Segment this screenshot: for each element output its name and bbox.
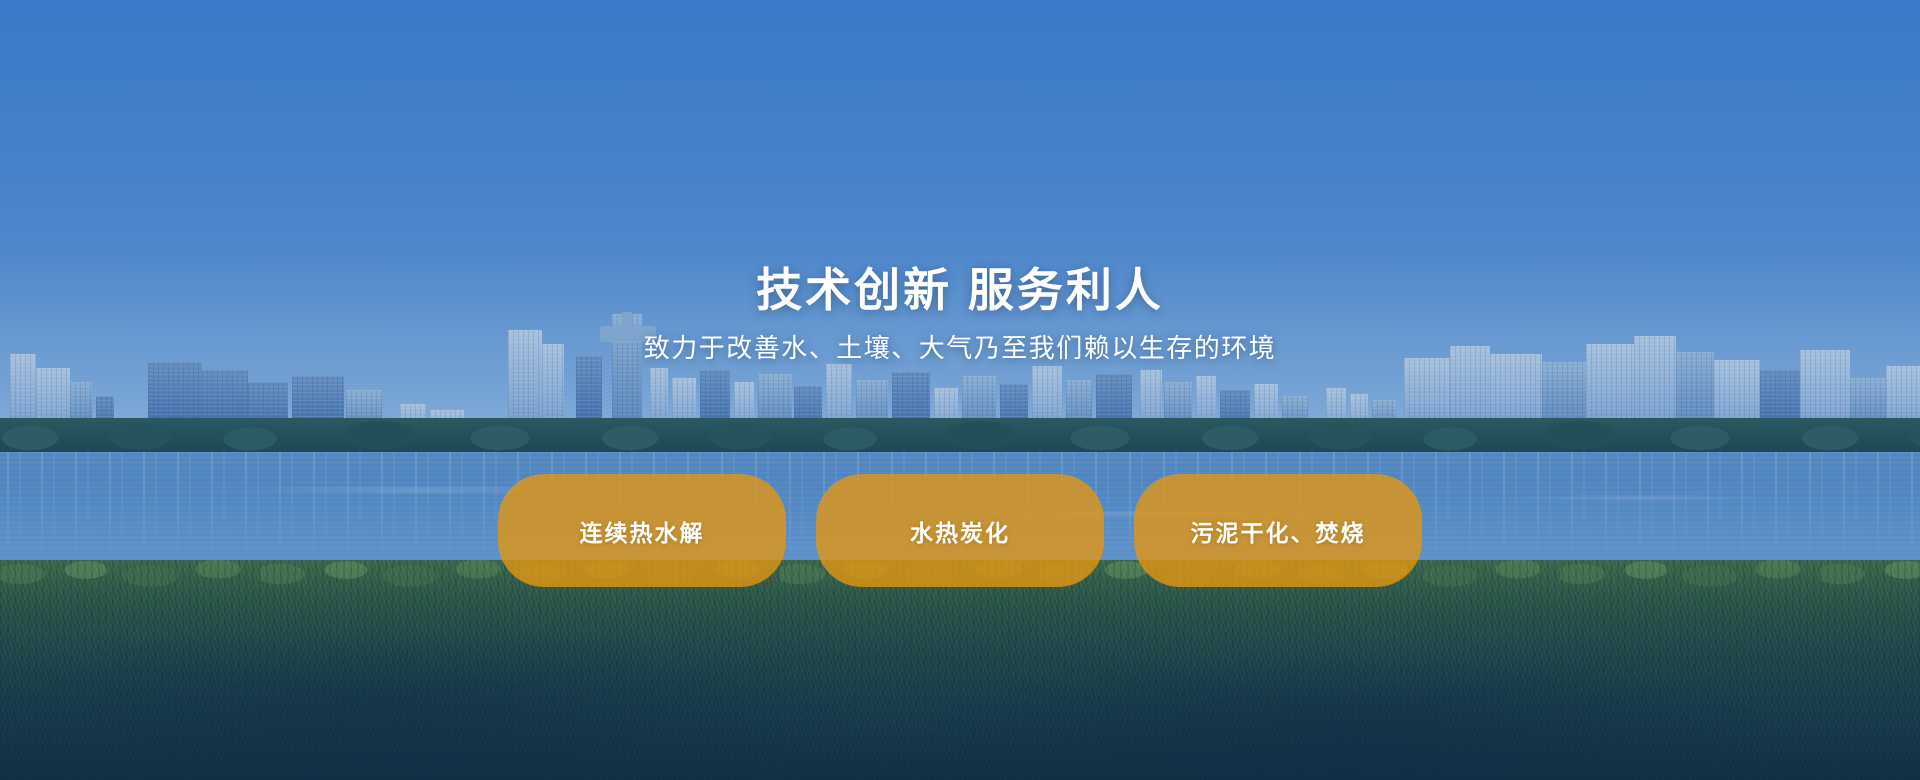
service-button-label: 水热炭化: [910, 514, 1010, 548]
service-button-continuous-thermal-hydrolysis[interactable]: 连续热水解: [498, 474, 786, 587]
hero-text-block: 技术创新 服务利人 致力于改善水、土壤、大气乃至我们赖以生存的环境: [0, 262, 1920, 366]
foreground-vegetation: [0, 560, 1920, 780]
hero-banner: 技术创新 服务利人 致力于改善水、土壤、大气乃至我们赖以生存的环境 连续热水解 …: [0, 0, 1920, 780]
service-button-sludge-drying-incineration[interactable]: 污泥干化、焚烧: [1134, 474, 1422, 587]
service-button-label: 连续热水解: [580, 514, 705, 548]
service-button-label: 污泥干化、焚烧: [1191, 514, 1366, 548]
page-subtitle: 致力于改善水、土壤、大气乃至我们赖以生存的环境: [0, 332, 1920, 366]
service-button-hydrothermal-carbonization[interactable]: 水热炭化: [816, 474, 1104, 587]
service-button-row: 连续热水解 水热炭化 污泥干化、焚烧: [0, 474, 1920, 587]
foliage-shading: [0, 560, 1920, 780]
page-title: 技术创新 服务利人: [0, 262, 1920, 318]
